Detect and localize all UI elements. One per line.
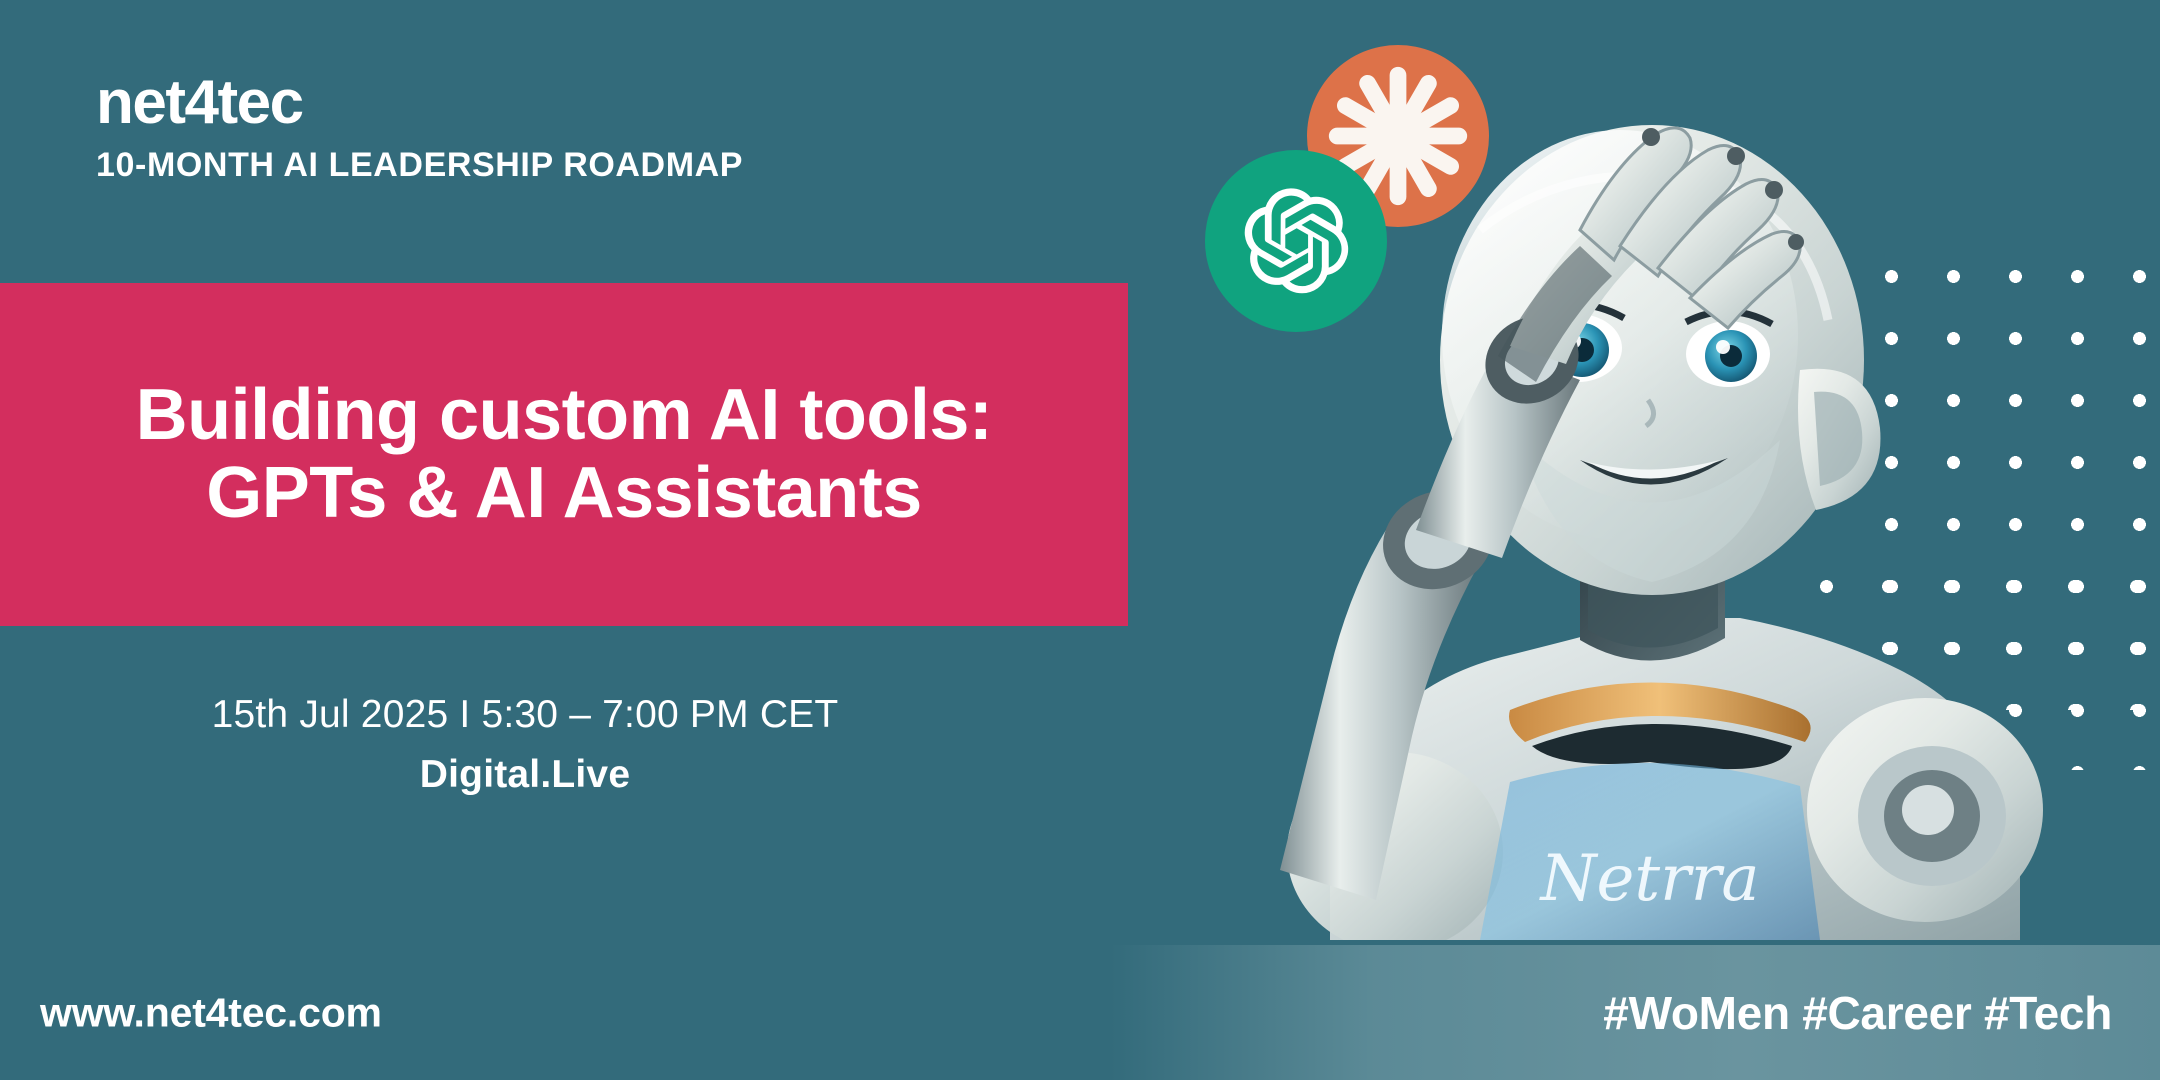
event-details: 15th Jul 2025 I 5:30 – 7:00 PM CET Digit… [0, 690, 1050, 797]
event-format: Digital.Live [0, 753, 1050, 797]
brand-block: net4tec 10-MONTH AI LEADERSHIP ROADMAP [96, 72, 743, 184]
event-date-time: 15th Jul 2025 I 5:30 – 7:00 PM CET [0, 690, 1050, 741]
robot-chest-label: Netrra [1539, 842, 1760, 916]
website-link[interactable]: www.net4tec.com [40, 989, 382, 1036]
openai-knot-icon [1205, 150, 1387, 332]
footer-bar: www.net4tec.com #WoMen #Career #Tech [0, 945, 2160, 1080]
openai-logo-badge [1205, 150, 1387, 332]
brand-tagline: 10-MONTH AI LEADERSHIP ROADMAP [96, 148, 743, 184]
page-title: Building custom AI tools: GPTs & AI Assi… [34, 377, 1094, 533]
brand-logo: net4tec [96, 72, 743, 134]
hashtags: #WoMen #Career #Tech [1603, 986, 2112, 1040]
promo-banner: Netrra [0, 0, 2160, 1080]
title-band: Building custom AI tools: GPTs & AI Assi… [0, 283, 1128, 626]
